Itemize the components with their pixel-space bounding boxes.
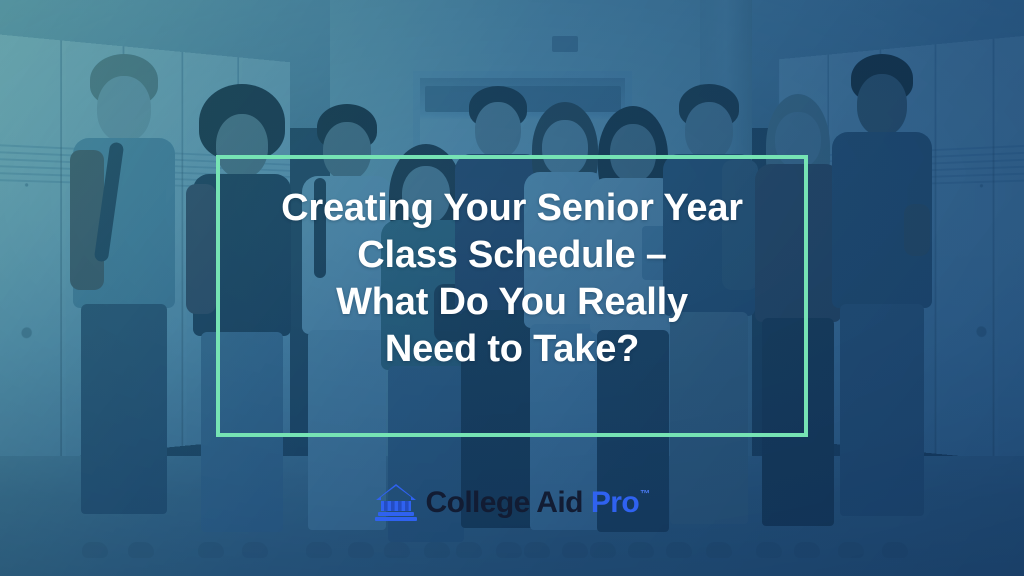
trademark-symbol: ™	[640, 490, 649, 500]
blog-header-card: Creating Your Senior Year Class Schedule…	[0, 0, 1024, 576]
college-building-icon	[375, 483, 417, 523]
page-title: Creating Your Senior Year Class Schedule…	[216, 185, 808, 373]
headline-line-2: Class Schedule –	[216, 232, 808, 279]
logo-wordmark: College Aid Pro ™	[426, 488, 650, 518]
headline-line-1: Creating Your Senior Year	[216, 185, 808, 232]
college-aid-pro-logo[interactable]: College Aid Pro ™	[0, 483, 1024, 523]
headline-line-4: Need to Take?	[216, 326, 808, 373]
headline-line-3: What Do You Really	[216, 279, 808, 326]
logo-word-accent: Pro	[591, 488, 639, 518]
logo-word-primary: College Aid	[426, 488, 583, 518]
